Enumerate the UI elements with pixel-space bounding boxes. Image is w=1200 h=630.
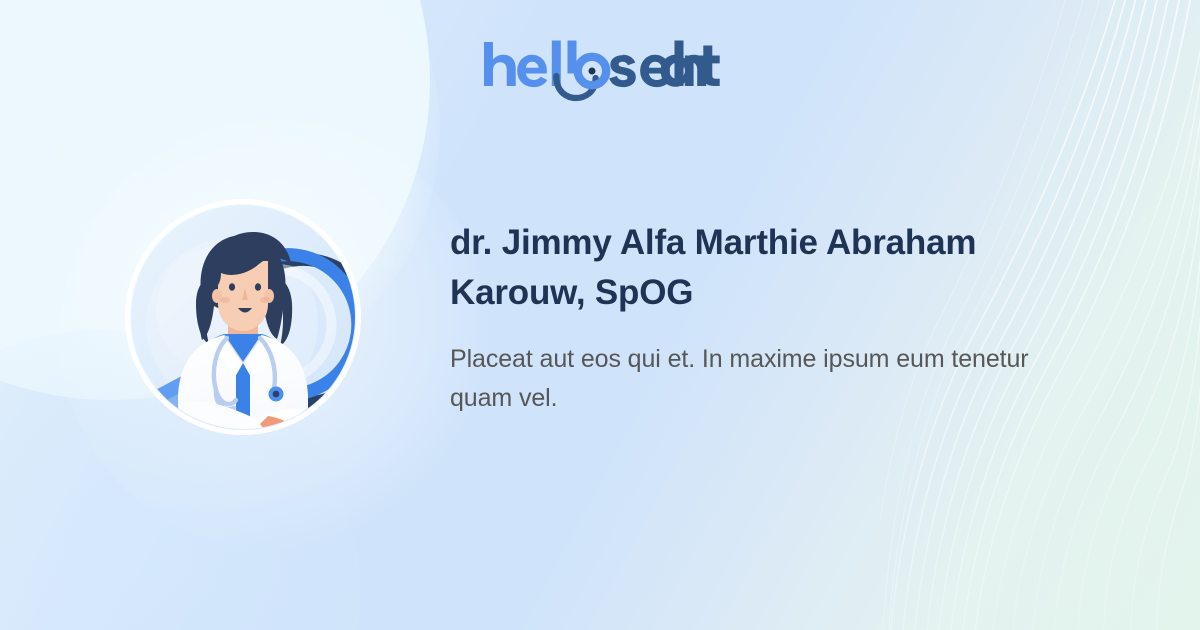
hellosehat-logo[interactable] — [478, 38, 728, 104]
doctor-blush-right — [260, 297, 270, 303]
doctor-eye-right — [255, 283, 261, 291]
doctor-name-title: dr. Jimmy Alfa Marthie Abraham Karouw, S… — [450, 218, 1070, 318]
share-card-canvas: dr. Jimmy Alfa Marthie Abraham Karouw, S… — [0, 0, 1200, 630]
doctor-illustration-svg — [124, 198, 362, 436]
doctor-blush-left — [220, 297, 230, 303]
doctor-description: Placeat aut eos qui et. In maxime ipsum … — [450, 340, 1070, 418]
stethoscope-chestpiece-icon — [578, 57, 606, 85]
doctor-info-block: dr. Jimmy Alfa Marthie Abraham Karouw, S… — [450, 218, 1070, 418]
doctor-avatar — [124, 198, 362, 436]
hellosehat-logo-svg-tail — [658, 38, 728, 104]
logo-text-hello — [484, 41, 577, 88]
doctor-hand-left — [168, 432, 202, 436]
doctor-eye-left — [229, 283, 235, 291]
